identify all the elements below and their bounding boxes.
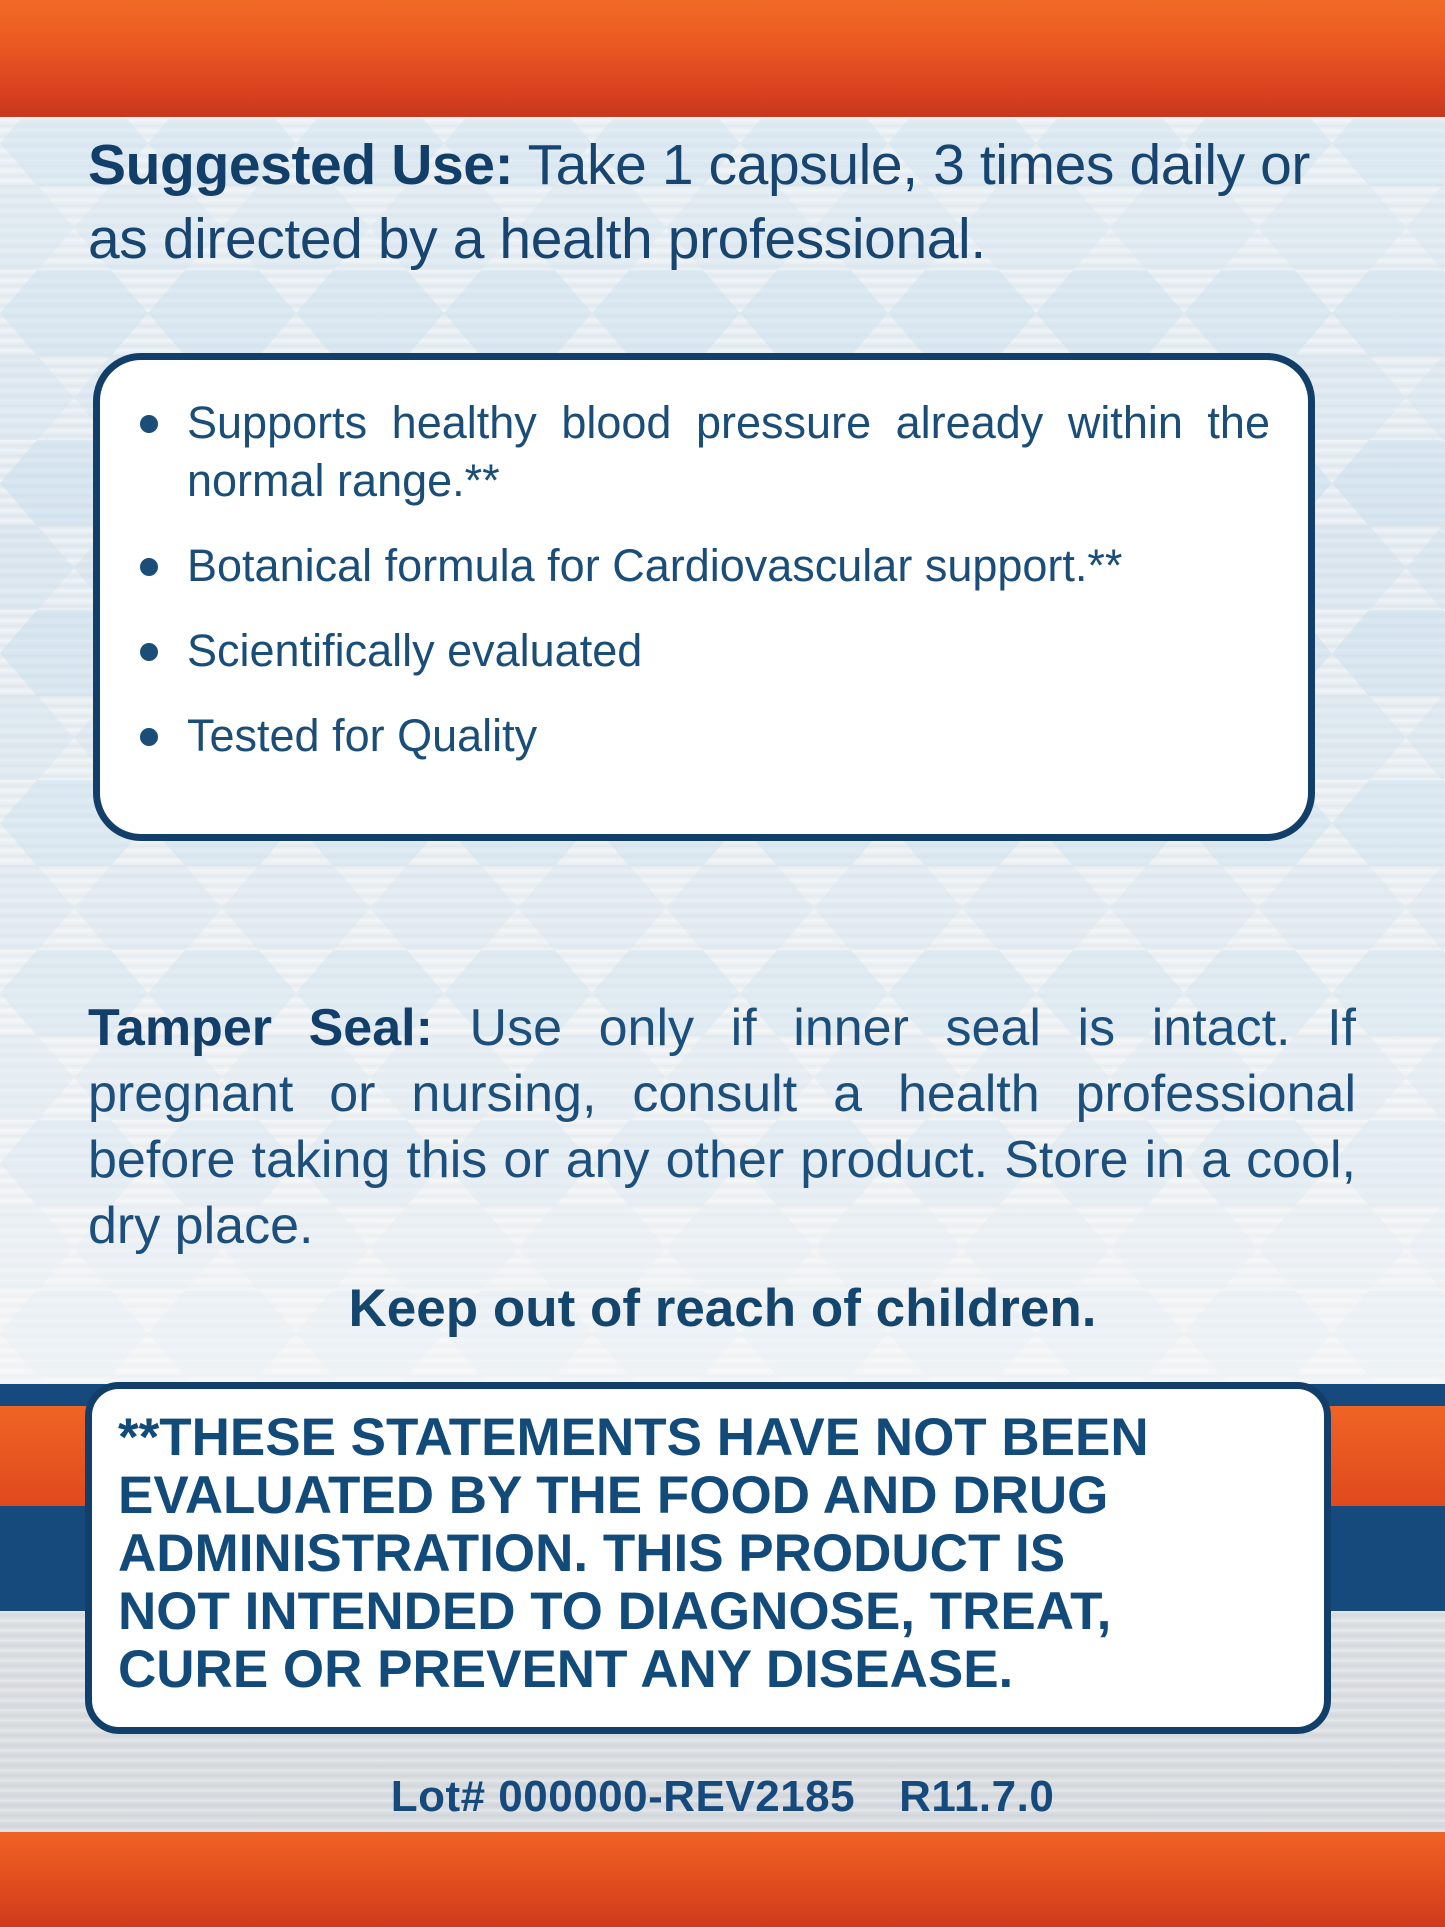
fda-line-3: ADMINISTRATION. THIS PRODUCT IS xyxy=(118,1525,1298,1583)
benefits-list: Supports healthy blood pressure already … xyxy=(100,360,1308,765)
fda-line-2: EVALUATED BY THE FOOD AND DRUG xyxy=(118,1467,1298,1525)
benefit-text: Tested for Quality xyxy=(187,707,1270,765)
bullet-dot-icon xyxy=(140,728,158,746)
fda-disclaimer-card: **THESE STATEMENTS HAVE NOT BEEN EVALUAT… xyxy=(85,1382,1331,1734)
fda-line-1: **THESE STATEMENTS HAVE NOT BEEN xyxy=(118,1409,1298,1467)
benefit-text: Supports healthy blood pressure already … xyxy=(187,394,1270,510)
benefit-text: Scientifically evaluated xyxy=(187,622,1270,680)
lot-number-line: Lot# 000000-REV2185R11.7.0 xyxy=(0,1772,1445,1822)
benefits-card: Supports healthy blood pressure already … xyxy=(93,353,1315,841)
benefit-text: Botanical formula for Cardiovascular sup… xyxy=(187,537,1270,595)
fda-disclaimer-lines: **THESE STATEMENTS HAVE NOT BEEN EVALUAT… xyxy=(118,1409,1298,1699)
suggested-use-paragraph: Suggested Use: Take 1 capsule, 3 times d… xyxy=(88,128,1360,276)
bullet-dot-icon xyxy=(140,558,158,576)
top-accent-bar xyxy=(0,0,1445,117)
list-item: Tested for Quality xyxy=(140,707,1270,765)
tamper-seal-paragraph: Tamper Seal: Use only if inner seal is i… xyxy=(88,995,1356,1259)
lot-number: Lot# 000000-REV2185 xyxy=(391,1772,855,1821)
fda-line-4: NOT INTENDED TO DIAGNOSE, TREAT, xyxy=(118,1583,1298,1641)
keep-out-of-reach-warning: Keep out of reach of children. xyxy=(0,1278,1445,1340)
bottom-accent-bar xyxy=(0,1832,1445,1927)
fda-line-5: CURE OR PREVENT ANY DISEASE. xyxy=(118,1641,1298,1699)
suggested-use-heading: Suggested Use: xyxy=(88,133,513,197)
list-item: Botanical formula for Cardiovascular sup… xyxy=(140,537,1270,595)
list-item: Scientifically evaluated xyxy=(140,622,1270,680)
bullet-dot-icon xyxy=(140,415,158,433)
supplement-label-panel: Suggested Use: Take 1 capsule, 3 times d… xyxy=(0,0,1445,1927)
revision-number: R11.7.0 xyxy=(899,1772,1054,1821)
tamper-seal-heading: Tamper Seal: xyxy=(88,999,433,1057)
list-item: Supports healthy blood pressure already … xyxy=(140,394,1270,510)
bullet-dot-icon xyxy=(140,643,158,661)
